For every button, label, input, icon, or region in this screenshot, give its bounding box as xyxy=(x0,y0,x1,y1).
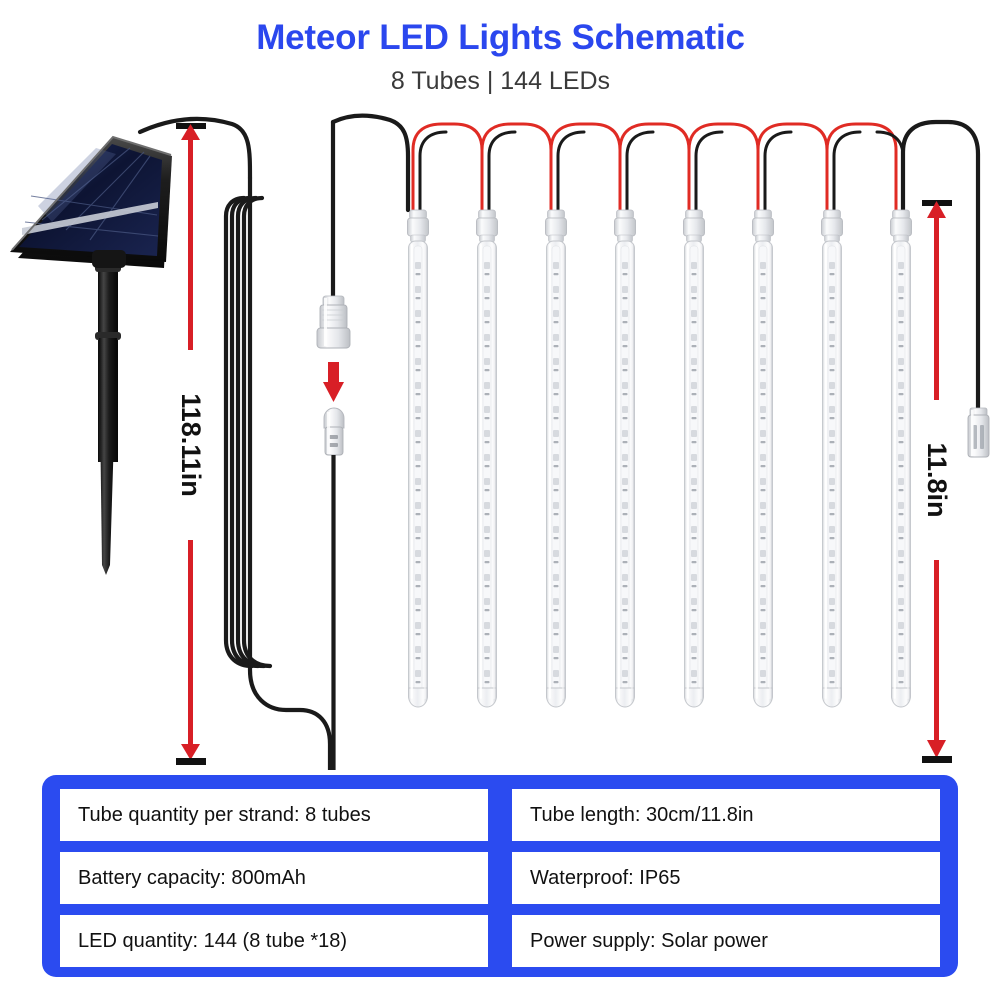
dimension-strand-length: 118.11in xyxy=(168,123,214,765)
assembly-direction-arrow xyxy=(323,362,344,402)
header: Meteor LED Lights Schematic 8 Tubes | 14… xyxy=(0,18,1001,96)
spec-row-waterproof: Waterproof: IP65 xyxy=(512,852,940,904)
solar-panel xyxy=(10,137,172,575)
spec-column-left: Tube quantity per strand: 8 tubes Batter… xyxy=(60,789,488,967)
spec-column-right: Tube length: 30cm/11.8in Waterproof: IP6… xyxy=(512,789,940,967)
dimension-label-strand-length: 118.11in xyxy=(176,393,206,497)
waterproof-connector xyxy=(317,296,350,348)
spec-row-led-quantity: LED quantity: 144 (8 tube *18) xyxy=(60,915,488,967)
meteor-tube xyxy=(408,210,429,707)
ground-stake xyxy=(95,262,121,575)
meteor-tube xyxy=(753,210,774,707)
dimension-label-tube-length: 11.8in xyxy=(922,442,952,517)
spec-row-tube-length: Tube length: 30cm/11.8in xyxy=(512,789,940,841)
end-connector xyxy=(968,408,989,457)
page-title: Meteor LED Lights Schematic xyxy=(0,18,1001,58)
meteor-tube xyxy=(546,210,567,707)
page-subtitle: 8 Tubes | 144 LEDs xyxy=(0,66,1001,96)
meteor-tube xyxy=(891,210,912,707)
specifications-panel: Tube quantity per strand: 8 tubes Batter… xyxy=(42,775,958,977)
trunk-wire xyxy=(333,116,408,298)
tube-row xyxy=(408,210,912,707)
cable-coil xyxy=(226,178,330,770)
schematic-page: Meteor LED Lights Schematic 8 Tubes | 14… xyxy=(0,0,1001,1001)
schematic-diagram: 118.11in 11.8in xyxy=(0,110,1001,770)
end-run-wire xyxy=(903,122,978,410)
spec-row-battery-capacity: Battery capacity: 800mAh xyxy=(60,852,488,904)
spec-row-tube-quantity: Tube quantity per strand: 8 tubes xyxy=(60,789,488,841)
tube-hanger-wires xyxy=(413,124,903,210)
connector-plug xyxy=(324,408,344,770)
meteor-tube xyxy=(822,210,843,707)
meteor-tube xyxy=(477,210,498,707)
meteor-tube xyxy=(615,210,636,707)
dimension-tube-length: 11.8in xyxy=(914,200,960,763)
meteor-tube xyxy=(684,210,705,707)
spec-row-power-supply: Power supply: Solar power xyxy=(512,915,940,967)
